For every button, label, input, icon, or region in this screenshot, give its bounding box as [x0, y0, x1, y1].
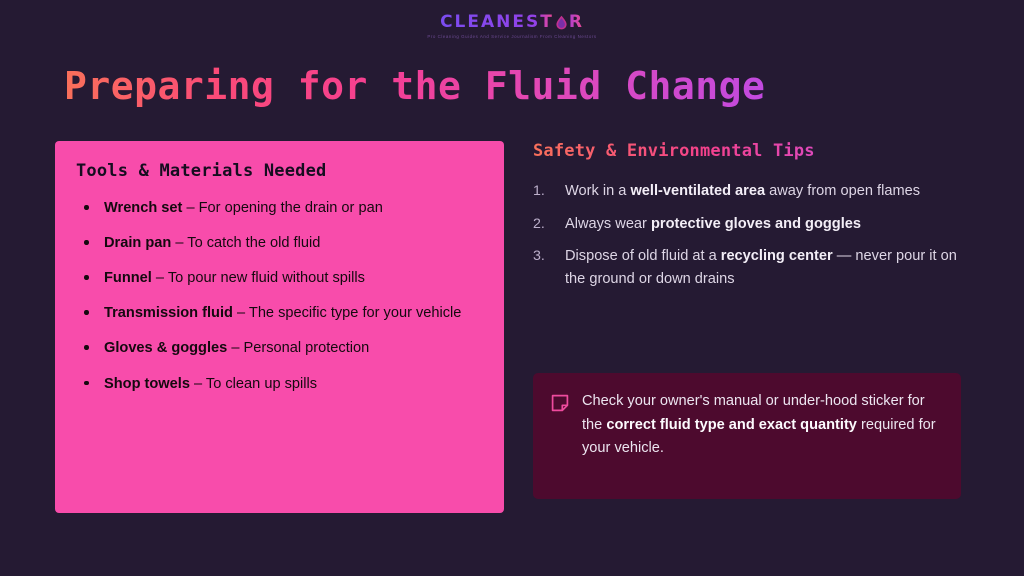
bullet-icon: [84, 240, 89, 245]
list-item-desc: To pour new fluid without spills: [168, 270, 365, 286]
list-item-number: 1.: [533, 180, 555, 202]
safety-tips-section: Safety & Environmental Tips 1. Work in a…: [533, 141, 961, 300]
list-item-text-pre: Always wear: [565, 216, 651, 232]
list-item: Wrench set – For opening the drain or pa…: [76, 197, 478, 220]
tools-card-heading: Tools & Materials Needed: [76, 161, 478, 181]
list-item-number: 3.: [533, 245, 555, 267]
list-item-term: Funnel: [104, 270, 152, 286]
safety-heading: Safety & Environmental Tips: [533, 141, 961, 161]
brand-name-part2: T: [540, 12, 554, 32]
list-item-desc: The specific type for your vehicle: [249, 305, 462, 321]
brand-tagline: Pro Cleaning Guides And Service Journali…: [427, 34, 596, 39]
brand-name-part3: R: [569, 12, 584, 32]
list-item: 3. Dispose of old fluid at a recycling c…: [533, 245, 961, 290]
list-item-desc: To clean up spills: [206, 376, 317, 392]
callout-text: Check your owner's manual or under-hood …: [582, 390, 939, 499]
list-item-text-bold: well-ventilated area: [630, 183, 765, 199]
list-item-text-bold: recycling center: [721, 248, 833, 264]
list-item-desc: To catch the old fluid: [187, 235, 320, 251]
list-item-text-pre: Work in a: [565, 183, 630, 199]
list-item-term: Wrench set: [104, 200, 182, 216]
list-item: 2. Always wear protective gloves and gog…: [533, 213, 961, 236]
list-item-text-pre: Dispose of old fluid at a: [565, 248, 721, 264]
bullet-icon: [84, 381, 89, 386]
callout-text-bold: correct fluid type and exact quantity: [606, 417, 857, 433]
list-item-term: Drain pan: [104, 235, 171, 251]
list-item: Funnel – To pour new fluid without spill…: [76, 267, 478, 290]
list-item-separator: –: [171, 235, 187, 251]
safety-list: 1. Work in a well-ventilated area away f…: [533, 180, 961, 290]
list-item-separator: –: [190, 376, 206, 392]
callout-box: Check your owner's manual or under-hood …: [533, 373, 961, 499]
list-item-text-post: away from open flames: [765, 183, 920, 199]
list-item-desc: Personal protection: [244, 340, 370, 356]
list-item-separator: –: [152, 270, 168, 286]
bullet-icon: [84, 275, 89, 280]
list-item-number: 2.: [533, 213, 555, 235]
list-item-text-bold: protective gloves and goggles: [651, 216, 861, 232]
list-item-term: Transmission fluid: [104, 305, 233, 321]
bullet-icon: [84, 310, 89, 315]
list-item-separator: –: [227, 340, 243, 356]
list-item: 1. Work in a well-ventilated area away f…: [533, 180, 961, 203]
list-item-desc: For opening the drain or pan: [199, 200, 383, 216]
tools-materials-card: Tools & Materials Needed Wrench set – Fo…: [55, 141, 504, 513]
brand-name-part1: CLEANES: [440, 12, 540, 32]
bullet-icon: [84, 205, 89, 210]
sticky-note-icon: [551, 394, 569, 412]
brand-logo: CLEANES T R Pro Cleaning Guides And Serv…: [0, 12, 1024, 39]
bullet-icon: [84, 345, 89, 350]
list-item-separator: –: [182, 200, 198, 216]
list-item-separator: –: [233, 305, 249, 321]
list-item: Drain pan – To catch the old fluid: [76, 232, 478, 255]
list-item: Shop towels – To clean up spills: [76, 373, 478, 396]
list-item-term: Gloves & goggles: [104, 340, 227, 356]
list-item-term: Shop towels: [104, 376, 190, 392]
list-item: Gloves & goggles – Personal protection: [76, 337, 478, 360]
tools-list: Wrench set – For opening the drain or pa…: [76, 197, 478, 395]
list-item: Transmission fluid – The specific type f…: [76, 302, 478, 325]
page-title: Preparing for the Fluid Change: [64, 64, 765, 108]
brand-wordmark: CLEANES T R: [440, 12, 584, 32]
water-drop-icon: [555, 15, 568, 30]
